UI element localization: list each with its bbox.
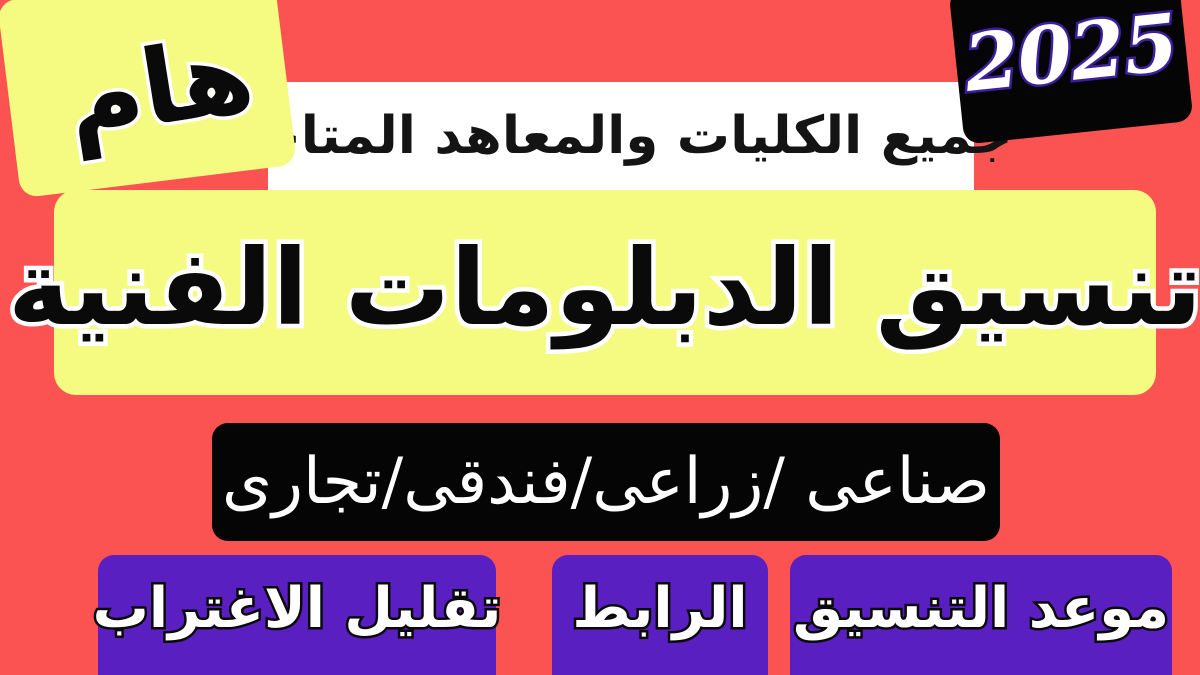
specialties-text: صناعى /زراعى/فندقى/تجارى: [222, 450, 990, 514]
year-badge-label: 2025: [960, 0, 1181, 110]
page-title: تنسيق الدبلومات الفنية: [8, 236, 1200, 341]
link-button[interactable]: الرابط: [552, 555, 768, 675]
coordination-date-button[interactable]: موعد التنسيق: [790, 555, 1172, 675]
reduce-distance-button[interactable]: تقليل الاغتراب: [98, 555, 496, 675]
subtitle-text: جميع الكليات والمعاهد المتاحة: [230, 110, 1012, 162]
subtitle-banner: جميع الكليات والمعاهد المتاحة: [268, 82, 974, 190]
specialties-bar: صناعى /زراعى/فندقى/تجارى: [212, 423, 1000, 541]
reduce-distance-button-label: تقليل الاغتراب: [93, 581, 502, 637]
important-badge-label: هام: [59, 21, 260, 153]
poster-canvas: هام جميع الكليات والمعاهد المتاحة 2025 ت…: [0, 0, 1200, 675]
link-button-label: الرابط: [572, 581, 747, 637]
year-badge: 2025: [949, 0, 1194, 145]
coordination-date-button-label: موعد التنسيق: [793, 581, 1169, 637]
important-badge: هام: [0, 0, 297, 198]
headline-card: تنسيق الدبلومات الفنية: [54, 190, 1156, 395]
